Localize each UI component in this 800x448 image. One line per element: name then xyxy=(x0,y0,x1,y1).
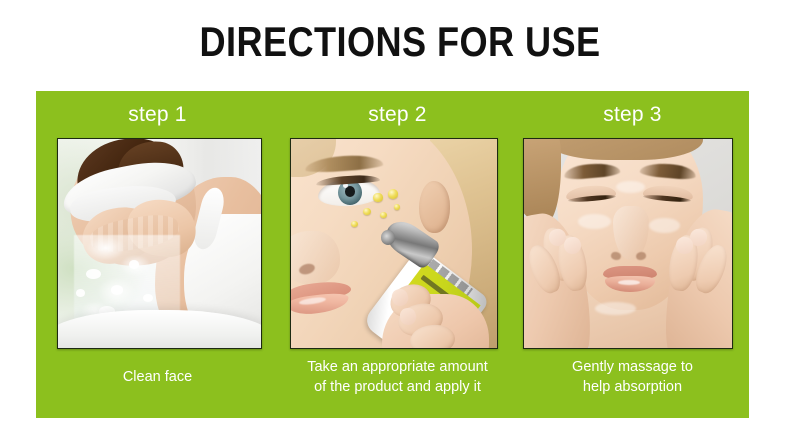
page-title: DIRECTIONS FOR USE xyxy=(56,18,744,66)
step-1-caption-line-1: Clean face xyxy=(38,367,277,387)
step-1-caption: Clean face xyxy=(38,367,277,387)
step-2-caption-line-1: Take an appropriate amount xyxy=(281,357,514,377)
step-column-2: step 2 xyxy=(279,91,516,418)
directions-for-use-banner: DIRECTIONS FOR USE step 1 xyxy=(0,0,800,448)
step-1-label: step 1 xyxy=(36,101,279,129)
step-3-photo-illustration xyxy=(524,139,732,348)
steps-panel: step 1 xyxy=(36,91,749,418)
step-2-label: step 2 xyxy=(279,101,516,129)
step-3-caption-line-1: Gently massage to xyxy=(518,357,747,377)
step-3-label: step 3 xyxy=(516,101,749,129)
step-2-caption-line-2: of the product and apply it xyxy=(281,377,514,397)
step-column-3: step 3 xyxy=(516,91,749,418)
step-2-caption: Take an appropriate amount of the produc… xyxy=(281,357,514,397)
step-3-photo xyxy=(523,138,733,349)
step-2-photo-illustration xyxy=(291,139,497,348)
step-column-1: step 1 xyxy=(36,91,279,418)
step-3-caption-line-2: help absorption xyxy=(518,377,747,397)
step-2-photo xyxy=(290,138,498,349)
step-1-photo-illustration xyxy=(58,139,261,348)
step-3-caption: Gently massage to help absorption xyxy=(518,357,747,397)
step-1-photo xyxy=(57,138,262,349)
